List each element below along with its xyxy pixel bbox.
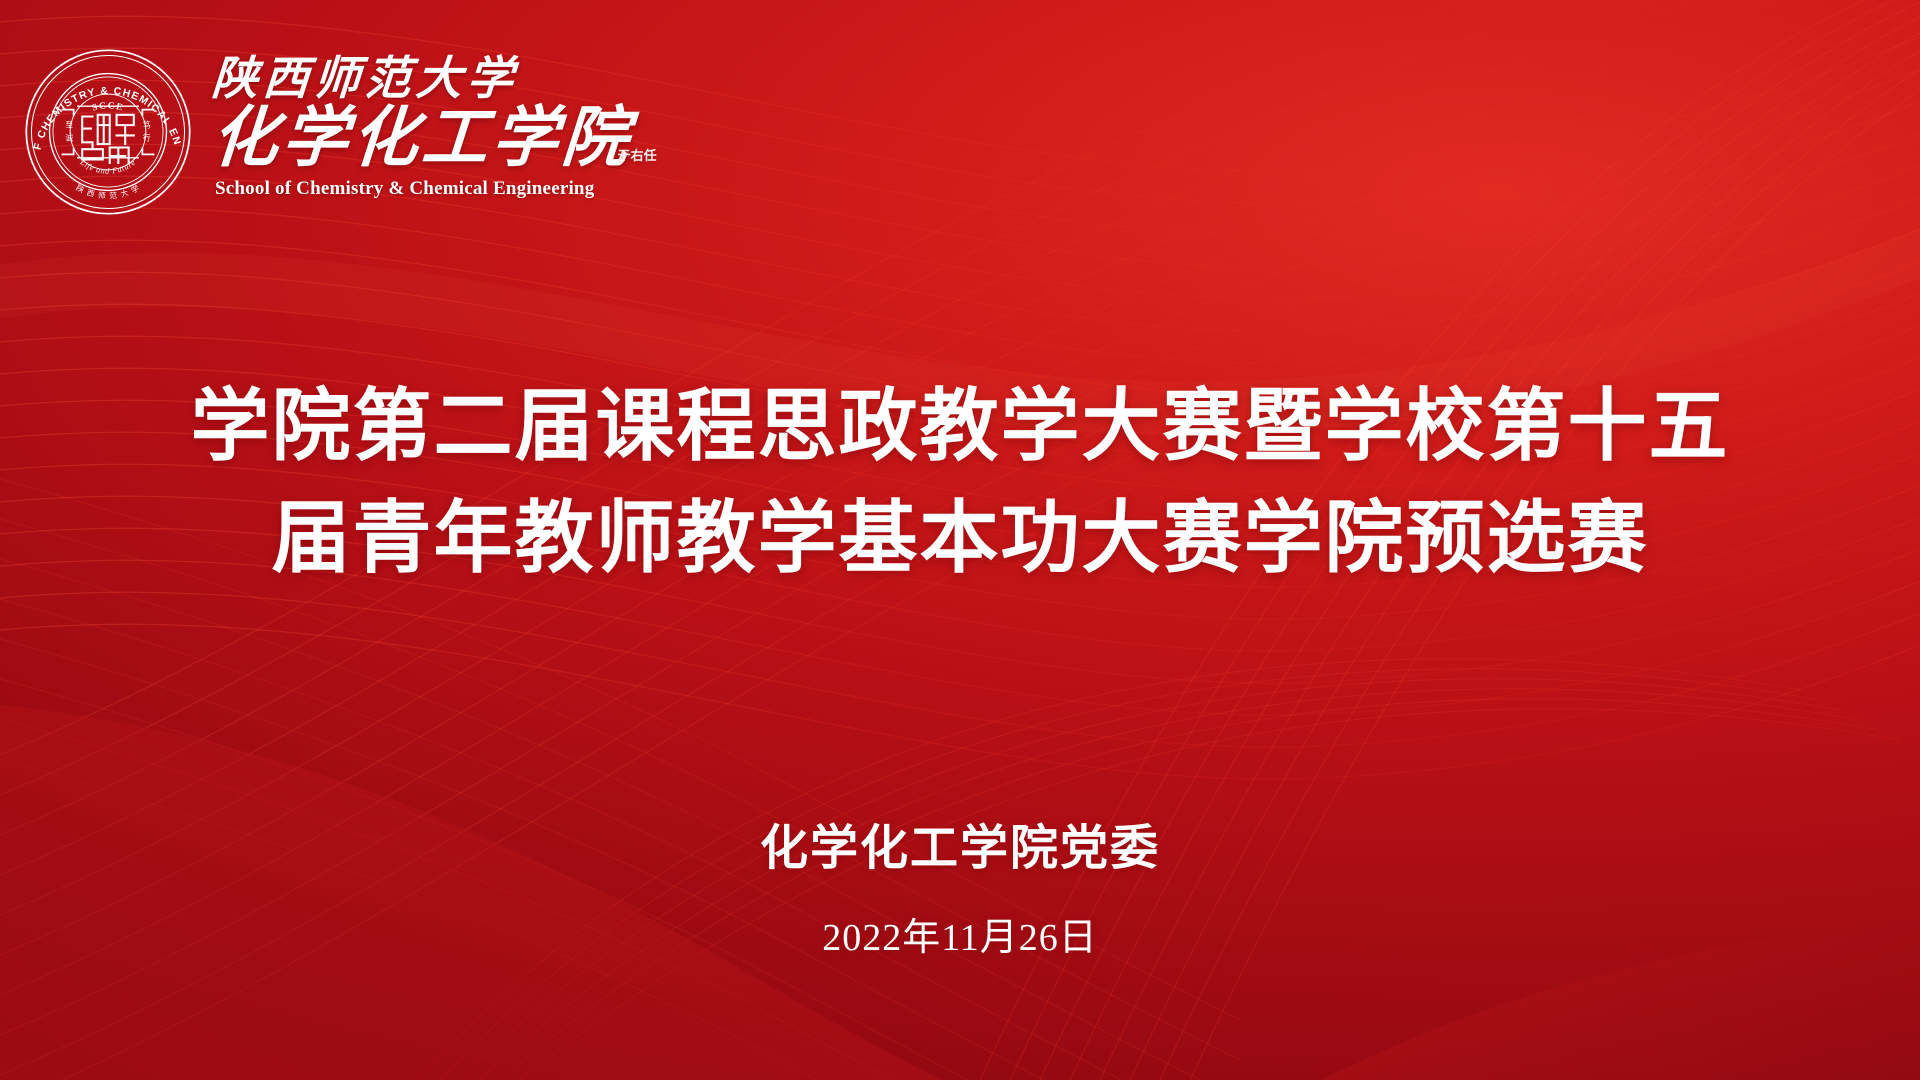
svg-text:行: 行 xyxy=(143,133,151,143)
college-name-english: School of Chemistry & Chemical Engineeri… xyxy=(215,178,632,200)
college-name-seal-suffix: 于右任 xyxy=(618,150,657,164)
svg-text:诚: 诚 xyxy=(65,133,73,143)
school-seal-icon: SCHOOL OF CHEMISTRY & CHEMICAL ENGINEERI… xyxy=(22,46,194,218)
college-logo-block: SCHOOL OF CHEMISTRY & CHEMICAL ENGINEERI… xyxy=(22,46,632,218)
svg-text:SCHOOL OF CHEMISTRY & CHEMICAL: SCHOOL OF CHEMISTRY & CHEMICAL ENGINEERI… xyxy=(22,46,183,151)
organizer-name: 化学化工学院党委 xyxy=(0,820,1920,878)
college-name-text: 化学化工学院 xyxy=(209,98,634,176)
college-wordmark: 陕西师范大学 化学化工学院 于右任 School of Chemistry & … xyxy=(212,46,632,200)
college-name: 化学化工学院 于右任 xyxy=(210,104,635,171)
footer-block: 化学化工学院党委 2022年11月26日 xyxy=(0,820,1920,961)
title-line-1: 学院第二届课程思政教学大赛暨学校第十五 xyxy=(0,372,1920,484)
svg-text:SCCE: SCCE xyxy=(91,101,125,113)
svg-text:笃: 笃 xyxy=(143,120,151,130)
svg-text:至: 至 xyxy=(65,121,73,130)
event-date: 2022年11月26日 xyxy=(0,906,1920,961)
poster-canvas: SCHOOL OF CHEMISTRY & CHEMICAL ENGINEERI… xyxy=(0,0,1920,1080)
title-line-2: 届青年教师教学基本功大赛学院预选赛 xyxy=(0,484,1920,596)
university-name: 陕西师范大学 xyxy=(210,54,633,102)
main-title: 学院第二届课程思政教学大赛暨学校第十五 届青年教师教学基本功大赛学院预选赛 xyxy=(0,372,1920,596)
